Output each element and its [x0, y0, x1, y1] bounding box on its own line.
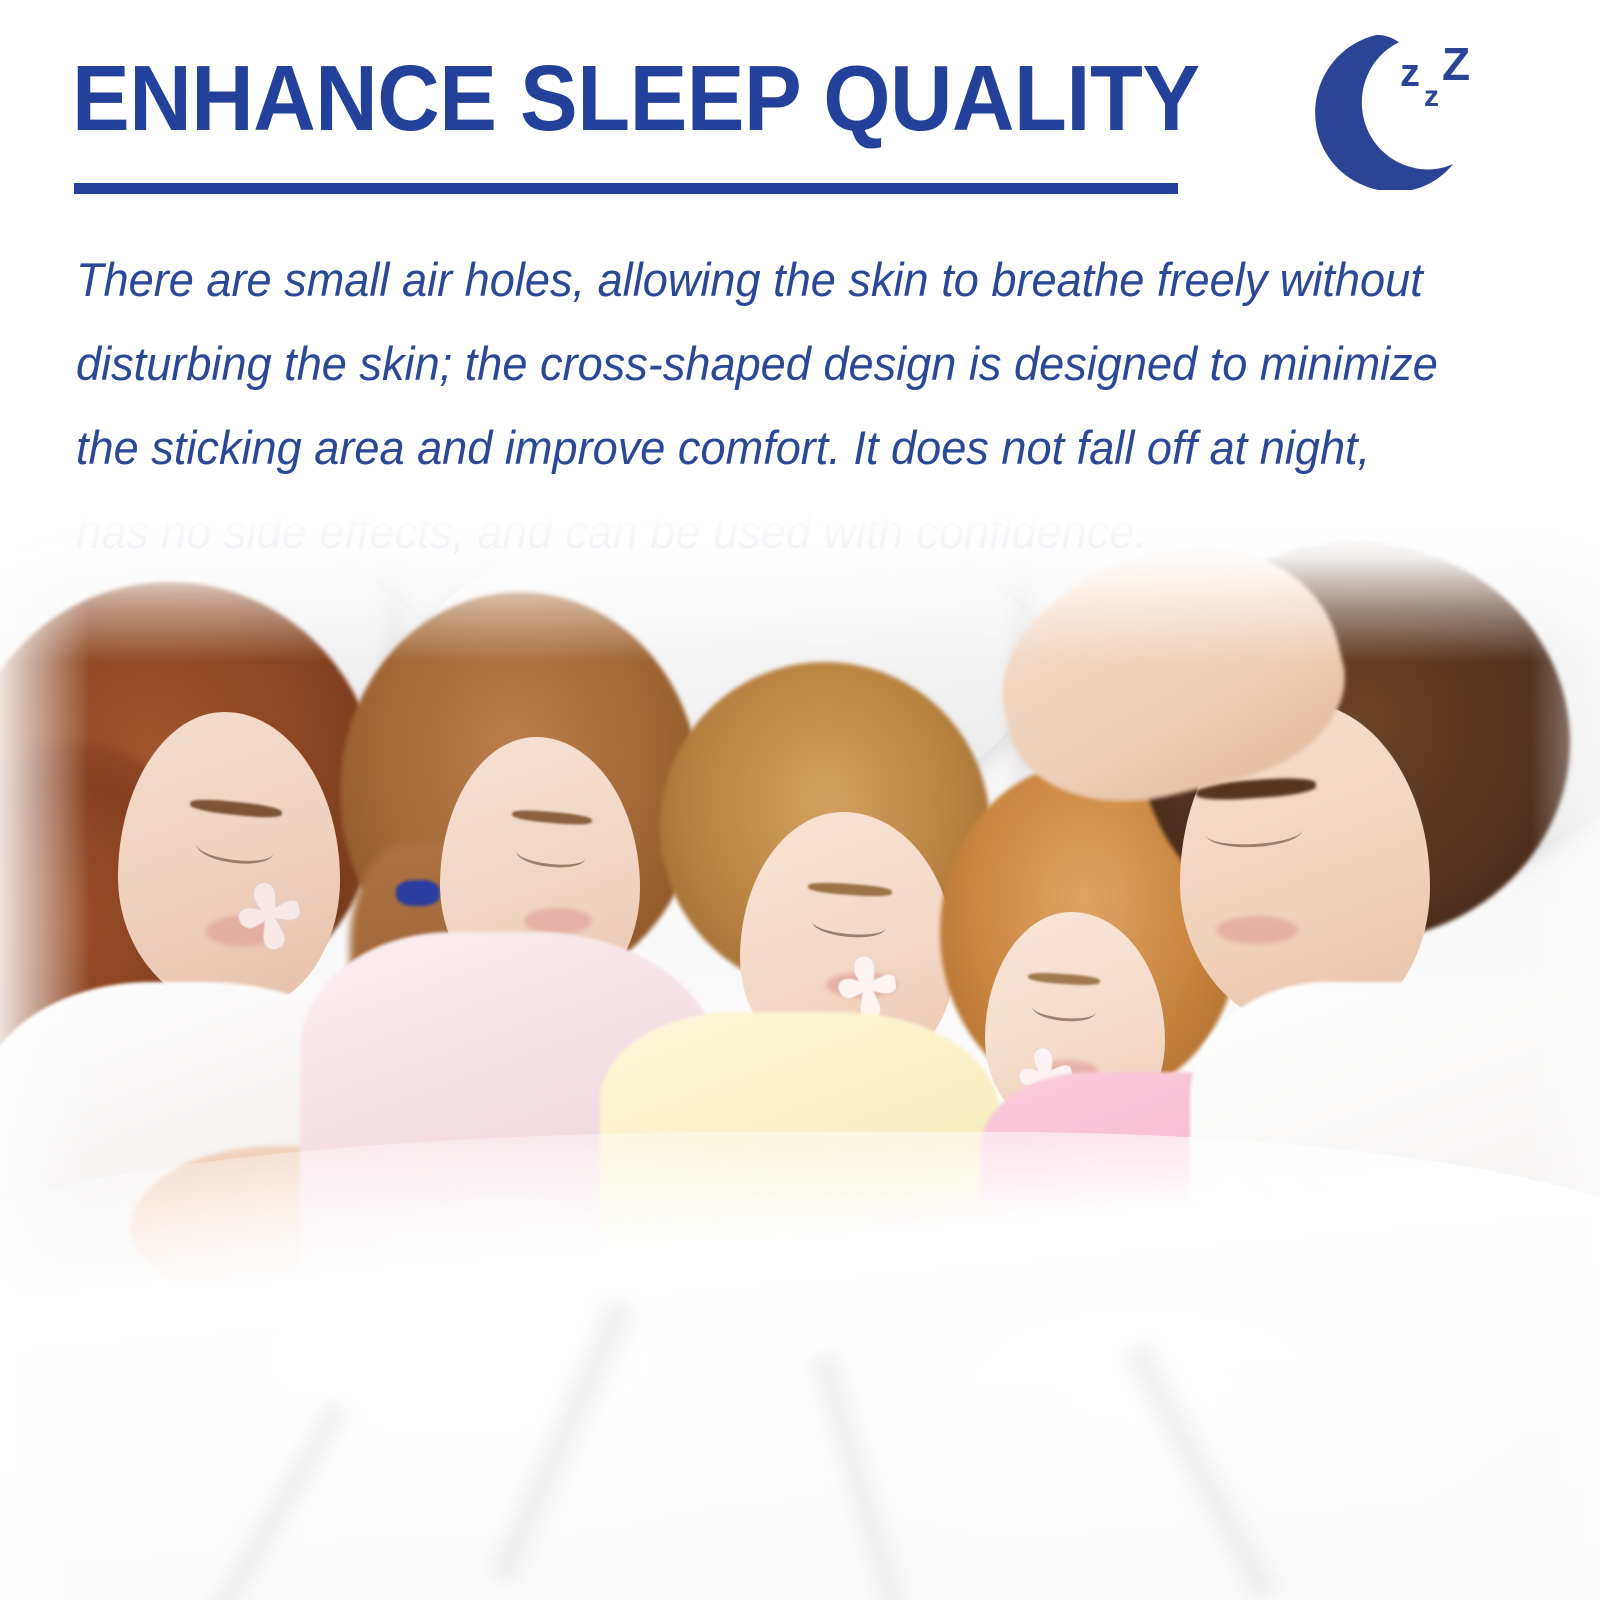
svg-text:Z: Z — [1442, 38, 1470, 90]
moon-zzz-icon: z z Z — [1296, 24, 1472, 190]
photo-left-fade — [0, 512, 90, 1600]
title-underline-rule — [74, 183, 1178, 194]
photo-top-fade — [0, 512, 1600, 662]
family-sleeping-photo — [0, 512, 1600, 1600]
older-girl-hair-tie — [396, 880, 440, 906]
description-line-2: disturbing the skin; the cross-shaped de… — [76, 322, 1439, 406]
description-line-3: the sticking area and improve comfort. I… — [76, 406, 1439, 490]
svg-text:z: z — [1400, 51, 1420, 95]
photo-right-fade — [1530, 512, 1600, 1600]
description-line-1: There are small air holes, allowing the … — [76, 238, 1439, 322]
product-infographic-page: ENHANCE SLEEP QUALITY z z Z There are sm… — [0, 0, 1600, 1600]
older-girl-lips — [524, 908, 592, 934]
page-title: ENHANCE SLEEP QUALITY — [72, 52, 1151, 145]
father-lips — [1216, 916, 1298, 944]
duvet — [0, 1132, 1600, 1600]
header-block: ENHANCE SLEEP QUALITY z z Z There are sm… — [0, 0, 1600, 545]
svg-text:z: z — [1424, 80, 1439, 113]
